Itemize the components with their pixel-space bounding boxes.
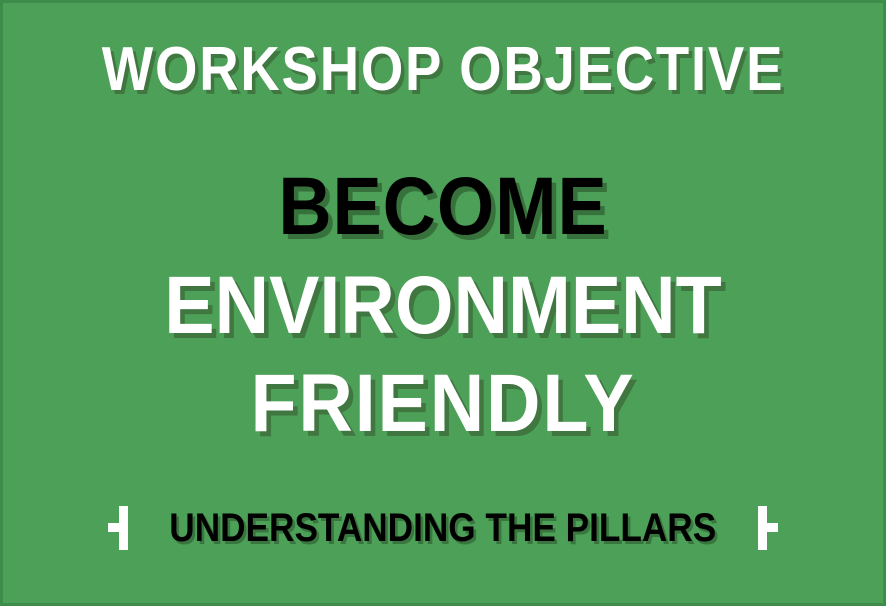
subtitle-text: UNDERSTANDING THE PILLARS	[170, 508, 717, 548]
subtitle-row: UNDERSTANDING THE PILLARS	[3, 506, 883, 550]
bracket-right-icon	[758, 506, 778, 550]
bracket-left-icon	[108, 506, 128, 550]
slide-canvas: WORKSHOP OBJECTIVE BECOME ENVIRONMENT FR…	[0, 0, 886, 606]
headline-line-1: BECOME	[47, 166, 839, 248]
bracket-left-arm	[108, 523, 121, 532]
bracket-right-arm	[765, 523, 778, 532]
slide-title: WORKSHOP OBJECTIVE	[56, 39, 830, 101]
headline-line-2: ENVIRONMENT	[38, 265, 848, 347]
headline-line-3: FRIENDLY	[38, 363, 848, 445]
